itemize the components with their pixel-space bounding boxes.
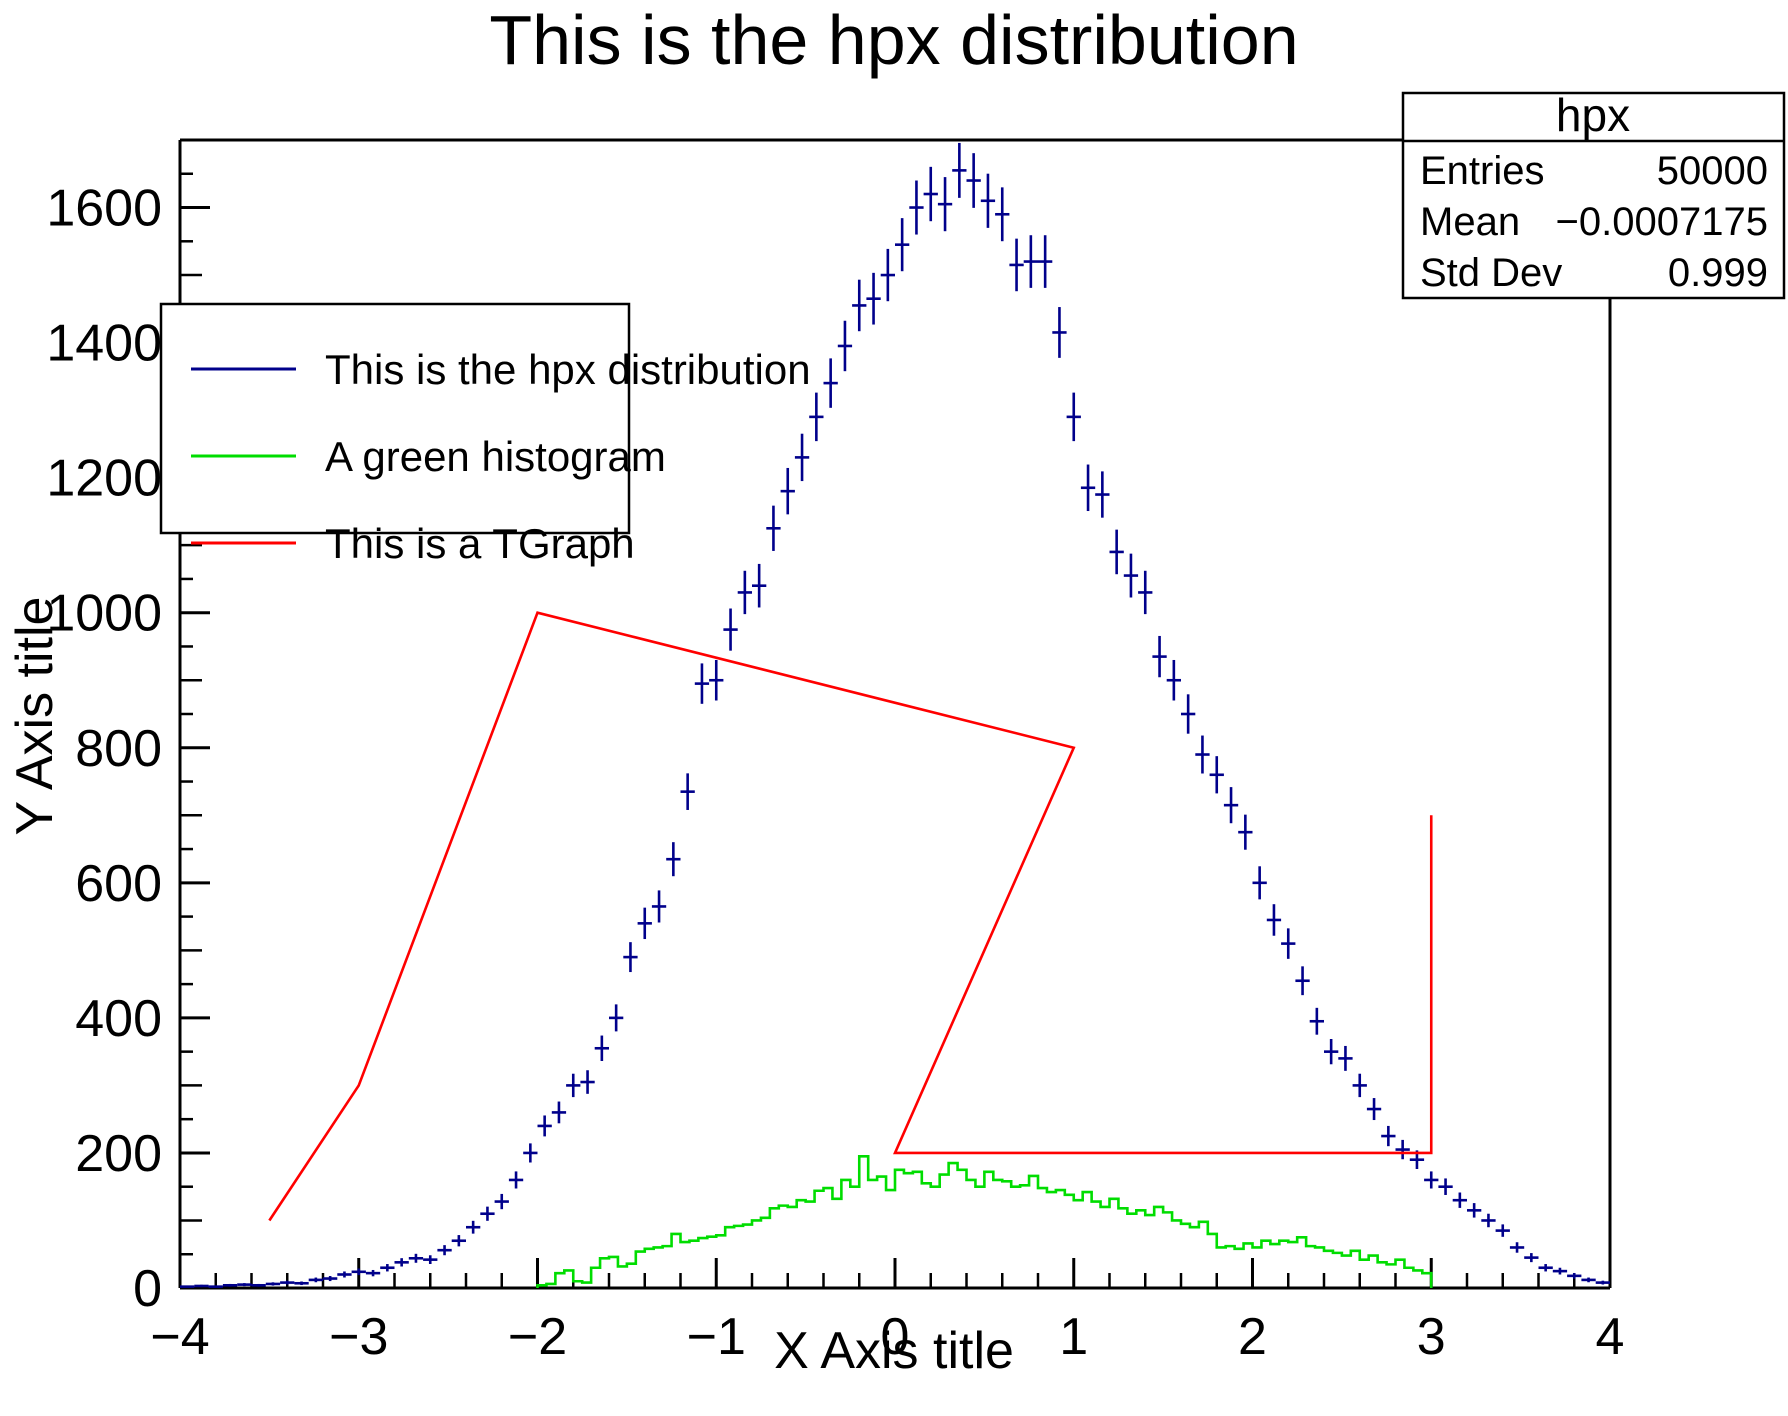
stats-box[interactable]: hpx Entries 50000 Mean −0.0007175 Std De… (1403, 89, 1784, 298)
stats-label-stddev: Std Dev (1420, 251, 1562, 295)
data-point (237, 1283, 251, 1286)
x-tick-label: −3 (329, 1308, 388, 1366)
stats-title: hpx (1556, 89, 1630, 141)
data-point (252, 1284, 266, 1287)
legend-box (161, 304, 629, 533)
stats-label-entries: Entries (1420, 149, 1545, 193)
legend-label-tgraph: This is a TGraph (325, 520, 635, 567)
x-tick-label: −4 (150, 1308, 209, 1366)
y-tick-label: 200 (75, 1125, 162, 1183)
page-title: This is the hpx distribution (489, 1, 1298, 79)
data-point (194, 1285, 208, 1287)
data-point (209, 1286, 223, 1288)
legend-label-hpx: This is the hpx distribution (325, 346, 811, 393)
root-canvas: This is the hpx distribution 02004006008… (0, 0, 1788, 1416)
stats-label-mean: Mean (1420, 200, 1520, 244)
y-tick-label: 800 (75, 720, 162, 778)
data-point (294, 1281, 308, 1285)
y-axis-title: Y Axis title (6, 597, 64, 836)
x-tick-label: −2 (508, 1308, 567, 1366)
y-tick-label: 1400 (46, 315, 162, 373)
stats-value-stddev: 0.999 (1668, 251, 1768, 295)
x-tick-label: 4 (1596, 1308, 1625, 1366)
y-tick-label: 600 (75, 855, 162, 913)
y-tick-label: 1600 (46, 180, 162, 238)
x-tick-label: 1 (1059, 1308, 1088, 1366)
legend-label-green: A green histogram (325, 433, 666, 480)
data-point (266, 1282, 280, 1285)
data-point (180, 1286, 194, 1288)
data-point (223, 1284, 237, 1287)
root-plot-canvas: This is the hpx distribution 02004006008… (0, 0, 1788, 1416)
stats-value-mean: −0.0007175 (1556, 200, 1768, 244)
y-tick-label: 1200 (46, 450, 162, 508)
y-tick-label: 400 (75, 990, 162, 1048)
x-tick-label: −1 (687, 1308, 746, 1366)
x-tick-label: 2 (1238, 1308, 1267, 1366)
stats-value-entries: 50000 (1657, 149, 1768, 193)
x-tick-label: 3 (1417, 1308, 1446, 1366)
x-axis-title: X Axis title (774, 1322, 1014, 1380)
